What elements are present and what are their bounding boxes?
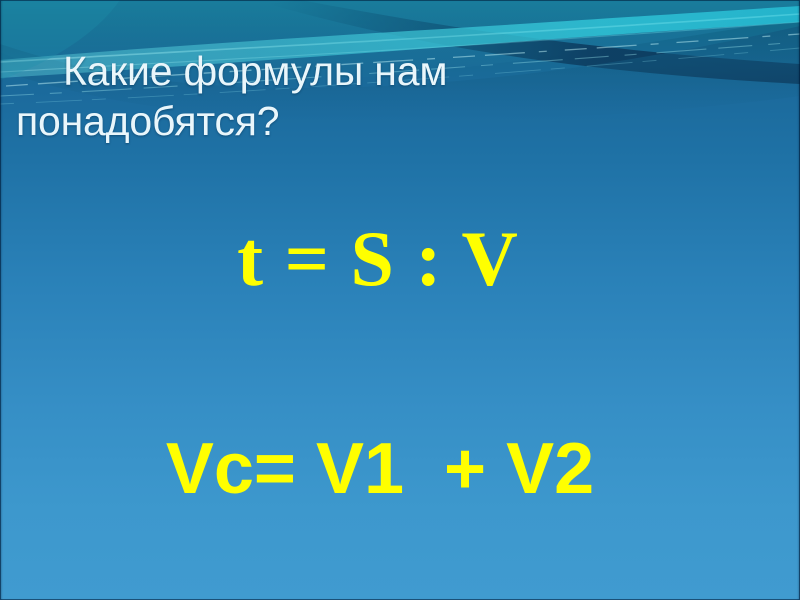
formula-time: t = S : V bbox=[0, 219, 756, 299]
title-line-2: понадобятся? bbox=[0, 96, 800, 146]
title-line-1: Какие формулы нам bbox=[0, 46, 800, 96]
formula-combined-speed: Vc= V1 + V2 bbox=[0, 429, 760, 509]
presentation-slide: Какие формулы нам понадобятся? t = S : V… bbox=[0, 0, 800, 600]
slide-title: Какие формулы нам понадобятся? bbox=[0, 46, 800, 146]
